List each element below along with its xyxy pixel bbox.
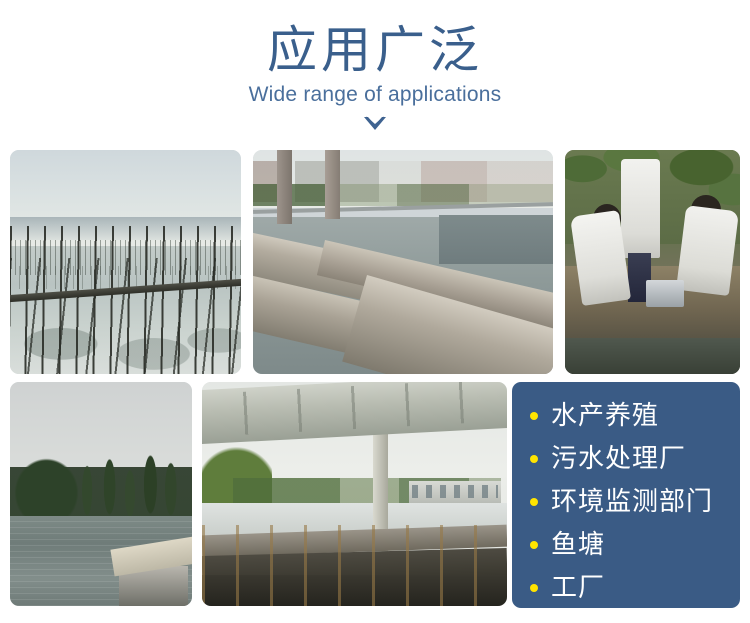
rack-railing-layer <box>202 525 507 606</box>
bush-layer <box>14 458 80 516</box>
instrument-case <box>646 280 685 307</box>
photo-aquaculture-pond <box>10 150 241 374</box>
technician-right-coat <box>676 205 738 296</box>
list-item: 环境监测部门 <box>530 480 730 523</box>
application-label: 污水处理厂 <box>551 444 686 474</box>
bullet-icon <box>530 455 538 463</box>
application-label: 鱼塘 <box>551 530 605 560</box>
technician-standing-coat <box>621 159 660 258</box>
bullet-icon <box>530 541 538 549</box>
chevron-down-icon <box>362 115 388 133</box>
bullet-icon <box>530 498 538 506</box>
concrete-column-right <box>325 150 340 219</box>
waterline-layer <box>565 338 740 374</box>
applications-panel: 水产养殖 污水处理厂 环境监测部门 鱼塘 工厂 <box>512 382 740 608</box>
building-windows-layer <box>412 485 497 498</box>
photo-wastewater-plant <box>253 150 553 374</box>
far-basin-water-layer <box>439 215 553 264</box>
chevron-down-wrap <box>0 113 750 135</box>
page-title: 应用广泛 <box>0 22 750 78</box>
page-header: 应用广泛 Wide range of applications <box>0 0 750 135</box>
list-item: 污水处理厂 <box>530 437 730 480</box>
bullet-icon <box>530 412 538 420</box>
photo-fish-pond <box>10 382 192 606</box>
concrete-column-left <box>277 150 292 224</box>
poplar-trees-layer <box>79 445 181 521</box>
application-label: 水产养殖 <box>551 401 659 431</box>
bullet-icon <box>530 584 538 592</box>
page-subtitle: Wide range of applications <box>0 82 750 107</box>
list-item: 工厂 <box>530 566 730 609</box>
application-label: 环境监测部门 <box>551 487 713 517</box>
photo-environment-monitoring <box>565 150 740 374</box>
list-item: 鱼塘 <box>530 523 730 566</box>
list-item: 水产养殖 <box>530 394 730 437</box>
photo-factory <box>202 382 507 606</box>
bamboo-poles-front-layer <box>10 258 241 374</box>
application-label: 工厂 <box>551 573 605 603</box>
